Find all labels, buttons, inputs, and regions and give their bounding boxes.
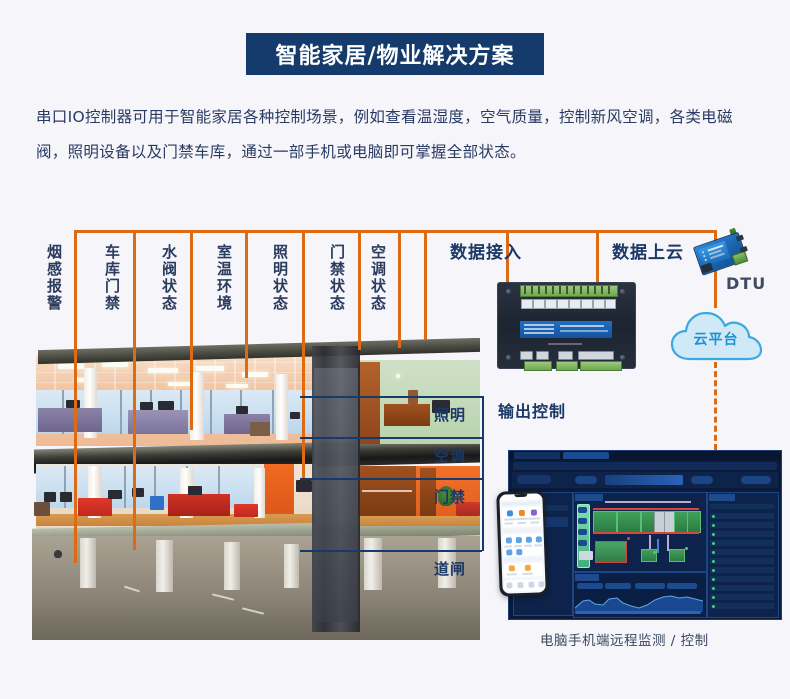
input-label-valve-status: 水阀状态 (161, 244, 176, 312)
output-control-label: 输出控制 (498, 398, 566, 422)
input-line-3 (190, 230, 193, 430)
output-label-access: 门禁 (434, 486, 466, 507)
input-label-garage-access: 车库门禁 (104, 244, 119, 312)
smartphone-mockup (496, 490, 548, 597)
cloud-to-monitor-line (714, 362, 717, 450)
page-subtitle: 串口IO控制器可用于智能家居各种控制场景，例如查看温湿度，空气质量，控制新风空调… (36, 100, 758, 170)
input-line-4 (245, 230, 248, 378)
data-cloud-line (596, 230, 599, 286)
page-title-banner: 智能家居/物业解决方案 (246, 33, 544, 75)
label-data-to-cloud: 数据上云 (612, 238, 684, 263)
output-line-access (300, 478, 482, 480)
output-label-lighting: 照明 (434, 404, 466, 425)
page-title: 智能家居/物业解决方案 (275, 38, 514, 70)
output-line-hvac (300, 437, 482, 439)
input-line-1 (74, 230, 77, 563)
building-cutaway-illustration (28, 338, 480, 644)
input-line-7 (398, 230, 401, 348)
input-label-lighting: 照明状态 (272, 244, 287, 312)
cloud-platform-shape: 云平台 (668, 305, 764, 367)
output-label-hvac: 空调 (434, 445, 466, 466)
input-line-6 (358, 230, 361, 350)
output-label-barrier: 道闸 (434, 558, 466, 579)
input-label-room-temp: 室温环境 (216, 244, 231, 312)
cloud-platform-label: 云平台 (668, 305, 764, 367)
phone-screen (499, 493, 545, 593)
input-label-door-access: 门禁状态 (329, 244, 344, 312)
output-control-box: 输出控制 (484, 396, 580, 424)
input-bus-line (74, 230, 714, 233)
output-line-lighting (300, 396, 482, 398)
input-line-2 (133, 230, 136, 550)
label-dtu: DTU (726, 274, 766, 293)
input-label-hvac-status: 空调状态 (370, 244, 385, 312)
output-line-barrier (300, 550, 482, 552)
input-line-8 (424, 230, 427, 340)
monitor-caption: 电脑手机端远程监测 / 控制 (540, 629, 709, 649)
trend-chart (575, 592, 703, 612)
input-label-smoke-alarm: 烟感报警 (46, 244, 61, 312)
dtu-device (693, 230, 753, 279)
label-data-access: 数据接入 (450, 238, 522, 263)
serial-io-controller-device (497, 282, 636, 369)
solution-diagram-page: 智能家居/物业解决方案 串口IO控制器可用于智能家居各种控制场景，例如查看温湿度… (0, 0, 790, 699)
remote-monitoring-dashboard (508, 450, 782, 620)
input-line-5 (302, 230, 305, 480)
